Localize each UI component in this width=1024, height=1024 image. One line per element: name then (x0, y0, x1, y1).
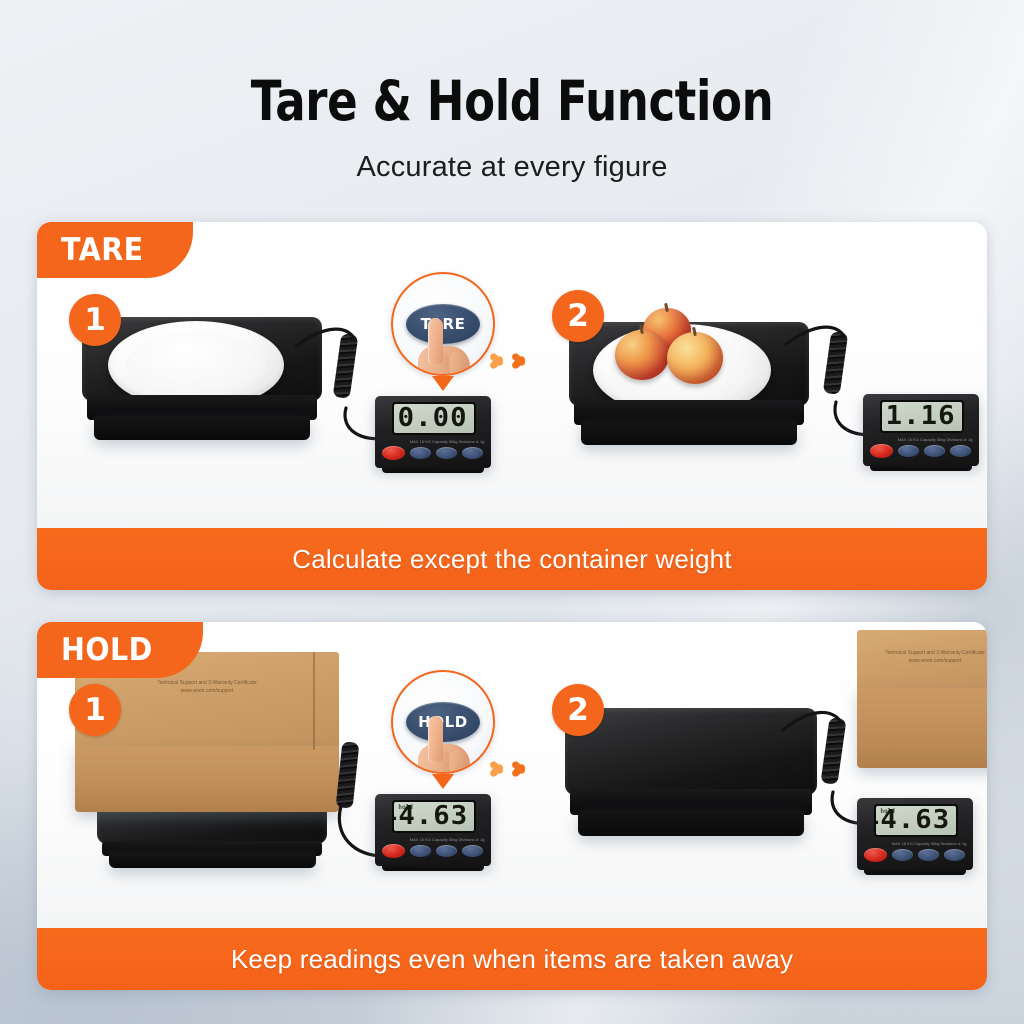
tare-stage: 1 TARE 0.00 M (37, 222, 987, 528)
lcd-value: 44.63 (394, 803, 468, 829)
panel-hold: Technical Support and 3-Warranty Certifi… (37, 622, 987, 990)
display-unit-tare-2: 1.16 MAX 15 KG Capacity 50kg Divisions d… (863, 394, 979, 466)
lcd-screen: hold 44.63 (394, 802, 474, 831)
display-button-row (382, 444, 486, 463)
display-unit-tare-1: 0.00 MAX 15 KG Capacity 50kg Divisions d… (375, 396, 491, 468)
hold-callout-circle: HOLD (391, 670, 495, 774)
display-foot (382, 865, 484, 871)
display-button-row (382, 842, 486, 861)
caption-tare: Calculate except the container weight (37, 528, 987, 590)
display-bezel: 0.00 (392, 402, 476, 435)
tare-button[interactable] (436, 845, 457, 857)
unit-button[interactable] (410, 845, 431, 857)
caption-hold-text: Keep readings even when items are taken … (231, 944, 793, 975)
box-removed-printed-text: Technical Support and 3-Warranty Certifi… (885, 650, 984, 665)
tab-tare-label: TARE (61, 232, 144, 268)
tab-hold-label: HOLD (61, 632, 153, 668)
tare-callout-circle: TARE (391, 272, 495, 376)
tare-callout: TARE (391, 272, 495, 376)
cardboard-box-front (75, 746, 339, 812)
callout-pointer-icon (432, 376, 454, 391)
step-number-1-label: 1 (84, 302, 106, 338)
caption-tare-text: Calculate except the container weight (292, 544, 732, 575)
box-print-line2: www.vevor.com/support (885, 658, 984, 666)
chevron-right-icon-dark (511, 344, 531, 378)
coiled-cable-3 (336, 741, 360, 808)
unit-button[interactable] (892, 849, 913, 861)
power-button[interactable] (870, 444, 893, 458)
hand-knuckles (418, 346, 470, 376)
hold-button[interactable] (462, 845, 483, 857)
lcd-value: 44.63 (876, 807, 950, 833)
page-title: Tare & Hold Function (92, 74, 932, 129)
step-number-1: 1 (69, 294, 121, 346)
transition-chevrons-tare (489, 344, 531, 378)
tare-button[interactable] (924, 445, 945, 457)
scale-tare-step2 (569, 322, 809, 467)
unit-button[interactable] (898, 445, 919, 457)
page-subtitle: Accurate at every figure (0, 151, 1024, 184)
hold-button[interactable] (950, 445, 971, 457)
step-number-1-label: 1 (84, 692, 106, 728)
scale-tare-step1 (82, 317, 322, 462)
header: Tare & Hold Function Accurate at every f… (0, 0, 1024, 184)
lcd-value: 1.16 (886, 403, 956, 429)
tab-tare: TARE (37, 222, 193, 278)
unit-button[interactable] (410, 447, 431, 459)
display-foot (870, 465, 972, 471)
hold-button[interactable] (944, 849, 965, 861)
step-number-2: 2 (552, 684, 604, 736)
apple (615, 330, 669, 380)
hand-knuckles (418, 744, 470, 774)
scale-base (578, 810, 805, 836)
box-print-line2: www.vevor.com/support (157, 688, 256, 696)
step-number-2: 2 (552, 290, 604, 342)
box-print-line1: Technical Support and 3-Warranty Certifi… (885, 650, 984, 658)
panel-tare: 1 TARE 0.00 M (37, 222, 987, 590)
tab-hold: HOLD (37, 622, 203, 678)
hold-button[interactable] (462, 447, 483, 459)
lcd-screen: hold 44.63 (876, 806, 956, 835)
display-button-row (870, 442, 974, 461)
plate-inner (126, 332, 267, 399)
display-button-row (864, 846, 968, 865)
tare-button[interactable] (918, 849, 939, 861)
display-unit-hold-2: hold 44.63 MAX 15 KG Capacity 50kg Divis… (857, 798, 973, 870)
scale-base (109, 853, 316, 868)
box-print-line1: Technical Support and 3-Warranty Certifi… (157, 680, 256, 688)
hold-callout: HOLD (391, 670, 495, 774)
index-finger (428, 716, 443, 762)
lcd-value: 0.00 (398, 405, 468, 431)
display-unit-hold-1: hold 44.63 MAX 15 KG Capacity 50kg Divis… (375, 794, 491, 866)
callout-pointer-icon (432, 774, 454, 789)
scale-base (94, 416, 310, 441)
index-finger (428, 318, 443, 364)
step-number-2-label: 2 (567, 298, 589, 334)
display-foot (382, 467, 484, 473)
display-bezel: hold 44.63 (874, 804, 958, 837)
chevron-right-icon-dark (511, 752, 531, 786)
tare-button[interactable] (436, 447, 457, 459)
box-seam-line (313, 652, 315, 750)
lcd-screen: 0.00 (394, 404, 474, 433)
step-number-2-label: 2 (567, 692, 589, 728)
display-foot (864, 869, 966, 875)
box-printed-text: Technical Support and 3-Warranty Certifi… (157, 680, 256, 695)
apple (667, 332, 723, 384)
power-button[interactable] (864, 848, 887, 862)
display-bezel: 1.16 (880, 400, 964, 433)
hand-pressing-icon (412, 722, 474, 774)
power-button[interactable] (382, 844, 405, 858)
lcd-screen: 1.16 (882, 402, 962, 431)
power-button[interactable] (382, 446, 405, 460)
hand-pressing-icon (412, 324, 474, 376)
transition-chevrons-hold (489, 752, 531, 786)
display-bezel: hold 44.63 (392, 800, 476, 833)
scale-base (581, 421, 797, 446)
step-number-1: 1 (69, 684, 121, 736)
caption-hold: Keep readings even when items are taken … (37, 928, 987, 990)
